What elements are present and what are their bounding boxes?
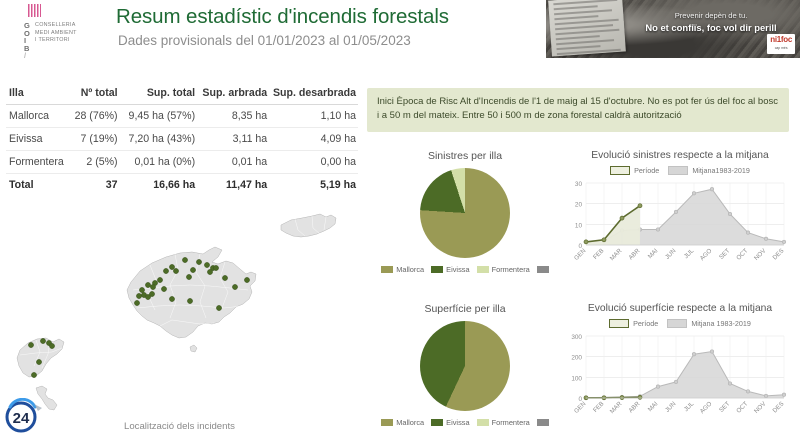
watermark-24-icon: 24 — [4, 398, 48, 434]
legend-swatch-mallorca — [381, 266, 393, 273]
legend-swatch-periode — [609, 319, 629, 328]
legend-item-formentera: Formentera — [477, 265, 530, 274]
cell-arbrada: 0,01 ha — [197, 151, 269, 174]
legend-swatch-formentera — [477, 266, 489, 273]
svg-text:MAI: MAI — [647, 247, 660, 260]
goib-logo-text: G O I B / CONSELLERIA MEDI AMBIENT I TER… — [24, 22, 77, 60]
ni1foc-logo: ni1foc cap més — [767, 34, 795, 54]
prevention-banner: Prevenir depèn de tu. No et confiïs, foc… — [546, 0, 800, 58]
svg-text:NOV: NOV — [753, 400, 768, 415]
banner-slogan-line-1: Prevenir depèn de tu. — [636, 11, 786, 20]
cell-desarbrada: 0,00 ha — [269, 151, 358, 174]
page-subtitle: Dades provisionals del 01/01/2023 al 01/… — [118, 33, 411, 48]
incident-map-svg — [0, 190, 370, 436]
legend-label-mallorca: Mallorca — [396, 265, 424, 274]
risk-period-notice-text: Inici Època de Risc Alt d'Incendis de l'… — [377, 95, 779, 123]
legend-item-mitjana: Mitjana 1983-2019 — [667, 319, 751, 328]
legend-item-extra — [537, 266, 549, 273]
legend-label-periode: Període — [633, 319, 658, 328]
legend-label-eivissa: Eivissa — [446, 265, 469, 274]
column-header-sup-arbrada: Sup. arbrada — [197, 83, 269, 105]
svg-text:DES: DES — [771, 400, 785, 414]
svg-text:MAR: MAR — [609, 400, 624, 415]
line-chart-superficie-legend: Període Mitjana 1983-2019 — [560, 319, 800, 328]
cell-sup-total: 9,45 ha (57%) — [120, 105, 198, 128]
svg-text:DES: DES — [771, 247, 785, 261]
svg-text:300: 300 — [571, 334, 582, 341]
dashboard-root: G O I B / CONSELLERIA MEDI AMBIENT I TER… — [0, 0, 800, 436]
svg-text:200: 200 — [571, 355, 582, 362]
goib-line-3: I TERRITORI — [35, 37, 77, 45]
cell-desarbrada: 4,09 ha — [269, 128, 358, 151]
incident-map — [0, 190, 370, 436]
cell-illa: Mallorca — [6, 105, 66, 128]
legend-item-formentera: Formentera — [477, 418, 530, 427]
page-header: G O I B / CONSELLERIA MEDI AMBIENT I TER… — [0, 0, 800, 68]
table-row: Eivissa 7 (19%) 7,20 ha (43%) 3,11 ha 4,… — [6, 128, 358, 151]
goib-logo: G O I B / CONSELLERIA MEDI AMBIENT I TER… — [6, 4, 98, 60]
pie-chart-superficie-legend: Mallorca Eivissa Formentera — [370, 418, 560, 427]
svg-text:GEN: GEN — [573, 400, 587, 414]
legend-label-mitjana: Mitjana 1983-2019 — [691, 319, 751, 328]
svg-text:FEB: FEB — [592, 400, 605, 413]
watermark-24: 24 — [4, 398, 48, 434]
svg-text:MAR: MAR — [609, 247, 624, 262]
banner-paper-sign — [548, 0, 626, 57]
pie-chart-superficie: Superfície per illa Mallorca Eivissa For… — [370, 303, 560, 427]
banner-slogan-line-2: No et confiïs, foc vol dir perill — [636, 22, 786, 33]
svg-text:MAI: MAI — [647, 400, 660, 413]
legend-item-eivissa: Eivissa — [431, 418, 469, 427]
column-header-total: Nº total — [66, 83, 120, 105]
line-chart-sinistres-plot: 0102030GENFEBMARABRMAIJUNJULAGOSETOCTNOV… — [560, 177, 800, 280]
goib-line-1: CONSELLERIA — [35, 22, 77, 30]
banner-slogan: Prevenir depèn de tu. No et confiïs, foc… — [636, 11, 786, 33]
column-header-illa: Illa — [6, 83, 66, 105]
line-chart-superficie-title: Evolució superfície respecte a la mitjan… — [560, 303, 800, 314]
legend-item-extra — [537, 419, 549, 426]
svg-text:100: 100 — [571, 375, 582, 382]
cell-sup-total: 7,20 ha (43%) — [120, 128, 198, 151]
pie-chart-sinistres-legend: Mallorca Eivissa Formentera — [370, 265, 560, 274]
legend-label-mallorca: Mallorca — [396, 418, 424, 427]
line-chart-sinistres-legend: Període Mitjana1983-2019 — [560, 166, 800, 175]
svg-text:SET: SET — [718, 247, 732, 261]
svg-text:JUN: JUN — [664, 400, 677, 413]
table-row: Formentera 2 (5%) 0,01 ha (0%) 0,01 ha 0… — [6, 151, 358, 174]
legend-label-eivissa: Eivissa — [446, 418, 469, 427]
legend-label-formentera: Formentera — [492, 418, 530, 427]
cell-arbrada: 8,35 ha — [197, 105, 269, 128]
svg-text:JUL: JUL — [683, 400, 696, 413]
legend-item-periode: Període — [609, 319, 658, 328]
goib-letters: G O I B / — [24, 22, 30, 60]
svg-text:SET: SET — [718, 400, 732, 414]
legend-swatch-eivissa — [431, 266, 443, 273]
column-header-sup-total: Sup. total — [120, 83, 198, 105]
svg-text:FEB: FEB — [592, 247, 605, 260]
legend-item-mallorca: Mallorca — [381, 265, 424, 274]
svg-text:30: 30 — [575, 181, 583, 188]
cell-total: 2 (5%) — [66, 151, 120, 174]
summary-table: Illa Nº total Sup. total Sup. arbrada Su… — [6, 83, 358, 196]
legend-item-mitjana: Mitjana1983-2019 — [668, 166, 750, 175]
svg-text:ABR: ABR — [627, 247, 641, 261]
line-chart-superficie: Evolució superfície respecte a la mitjan… — [560, 303, 800, 433]
svg-text:GEN: GEN — [573, 247, 587, 261]
legend-swatch-periode — [610, 166, 630, 175]
legend-swatch-formentera — [477, 419, 489, 426]
goib-slash: / — [24, 52, 30, 60]
cell-total: 28 (76%) — [66, 105, 120, 128]
pie-chart-sinistres-title: Sinistres per illa — [370, 150, 560, 162]
svg-text:NOV: NOV — [753, 247, 768, 262]
legend-label-formentera: Formentera — [492, 265, 530, 274]
cell-sup-total: 0,01 ha (0%) — [120, 151, 198, 174]
svg-text:OCT: OCT — [735, 400, 749, 414]
legend-item-periode: Període — [610, 166, 659, 175]
legend-swatch-extra — [537, 266, 549, 273]
goib-crest-icon — [28, 4, 41, 17]
column-header-sup-desarbrada: Sup. desarbrada — [269, 83, 358, 105]
pie-chart-superficie-title: Superfície per illa — [370, 303, 560, 315]
ni1foc-logo-text: ni1foc — [770, 35, 792, 44]
svg-text:ABR: ABR — [627, 400, 641, 414]
line-chart-sinistres: Evolució sinistres respecte a la mitjana… — [560, 150, 800, 280]
legend-label-mitjana: Mitjana1983-2019 — [692, 166, 750, 175]
legend-label-periode: Període — [634, 166, 659, 175]
incident-map-caption: Localització dels incidents — [124, 421, 235, 432]
table-header-row: Illa Nº total Sup. total Sup. arbrada Su… — [6, 83, 358, 105]
svg-text:JUL: JUL — [683, 247, 696, 260]
risk-period-notice: Inici Època de Risc Alt d'Incendis de l'… — [367, 88, 789, 132]
legend-item-eivissa: Eivissa — [431, 265, 469, 274]
svg-text:10: 10 — [575, 222, 583, 229]
cell-total: 7 (19%) — [66, 128, 120, 151]
page-title: Resum estadístic d'incendis forestals — [116, 5, 449, 29]
ni1foc-logo-sub: cap més — [770, 44, 792, 53]
pie-chart-superficie-graphic — [420, 321, 510, 411]
pie-chart-sinistres: Sinistres per illa Mallorca Eivissa Form… — [370, 150, 560, 274]
goib-line-2: MEDI AMBIENT — [35, 30, 77, 38]
table-row: Mallorca 28 (76%) 9,45 ha (57%) 8,35 ha … — [6, 105, 358, 128]
cell-illa: Eivissa — [6, 128, 66, 151]
line-chart-sinistres-title: Evolució sinistres respecte a la mitjana — [560, 150, 800, 161]
svg-text:AGO: AGO — [699, 400, 714, 415]
pie-chart-sinistres-graphic — [420, 168, 510, 258]
legend-swatch-eivissa — [431, 419, 443, 426]
cell-illa: Formentera — [6, 151, 66, 174]
cell-arbrada: 3,11 ha — [197, 128, 269, 151]
summary-table-container: Illa Nº total Sup. total Sup. arbrada Su… — [6, 83, 358, 196]
line-chart-superficie-plot: 0100200300GENFEBMARABRMAIJUNJULAGOSETOCT… — [560, 330, 800, 433]
svg-text:JUN: JUN — [664, 247, 677, 260]
legend-swatch-extra — [537, 419, 549, 426]
cell-desarbrada: 1,10 ha — [269, 105, 358, 128]
legend-swatch-mitjana — [668, 166, 688, 175]
svg-text:20: 20 — [575, 202, 583, 209]
legend-swatch-mitjana — [667, 319, 687, 328]
map-islands — [17, 214, 336, 410]
svg-text:AGO: AGO — [699, 247, 714, 262]
goib-department-lines: CONSELLERIA MEDI AMBIENT I TERRITORI — [35, 22, 77, 60]
legend-swatch-mallorca — [381, 419, 393, 426]
svg-text:OCT: OCT — [735, 247, 749, 261]
watermark-24-text: 24 — [13, 410, 30, 427]
legend-item-mallorca: Mallorca — [381, 418, 424, 427]
